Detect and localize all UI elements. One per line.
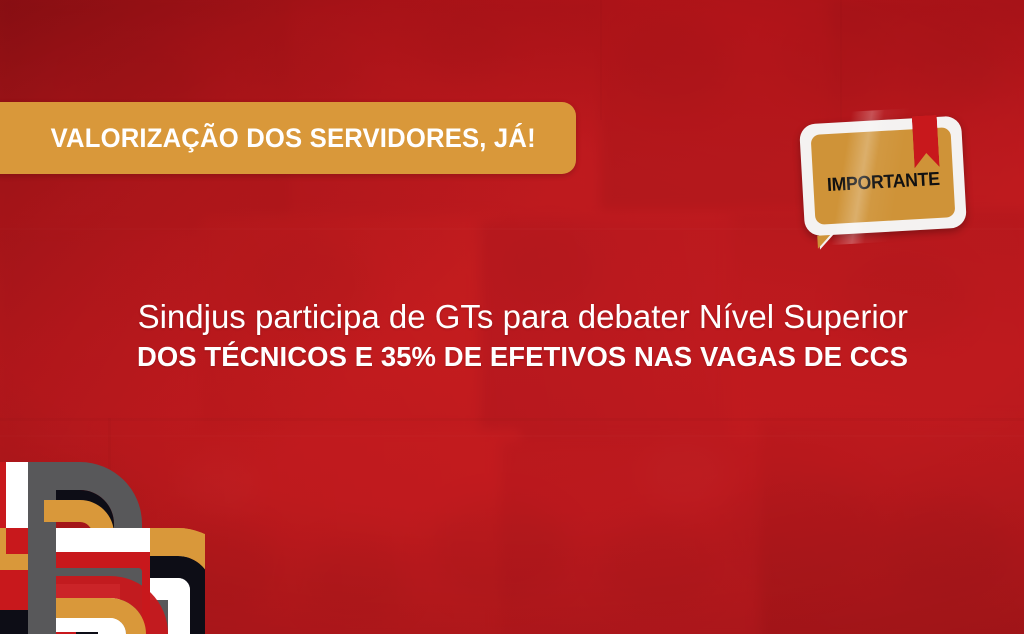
importante-badge: IMPORTANTE (799, 116, 967, 237)
banner-label: VALORIZAÇÃO DOS SERVIDORES, JÁ! (0, 123, 536, 154)
headline-line-2: DOS TÉCNICOS E 35% DE EFETIVOS NAS VAGAS… (18, 338, 908, 376)
headline-block: Sindjus participa de GTs para debater Ní… (0, 296, 908, 376)
sindjus-geometric-mark (0, 454, 205, 634)
geometric-mark-svg (0, 454, 205, 634)
banner-canvas: VALORIZAÇÃO DOS SERVIDORES, JÁ! IMPORTAN… (0, 0, 1024, 634)
valorizacao-banner: VALORIZAÇÃO DOS SERVIDORES, JÁ! (0, 102, 576, 174)
badge-fill-tail (817, 235, 831, 249)
headline-line-1: Sindjus participa de GTs para debater Ní… (0, 296, 908, 338)
